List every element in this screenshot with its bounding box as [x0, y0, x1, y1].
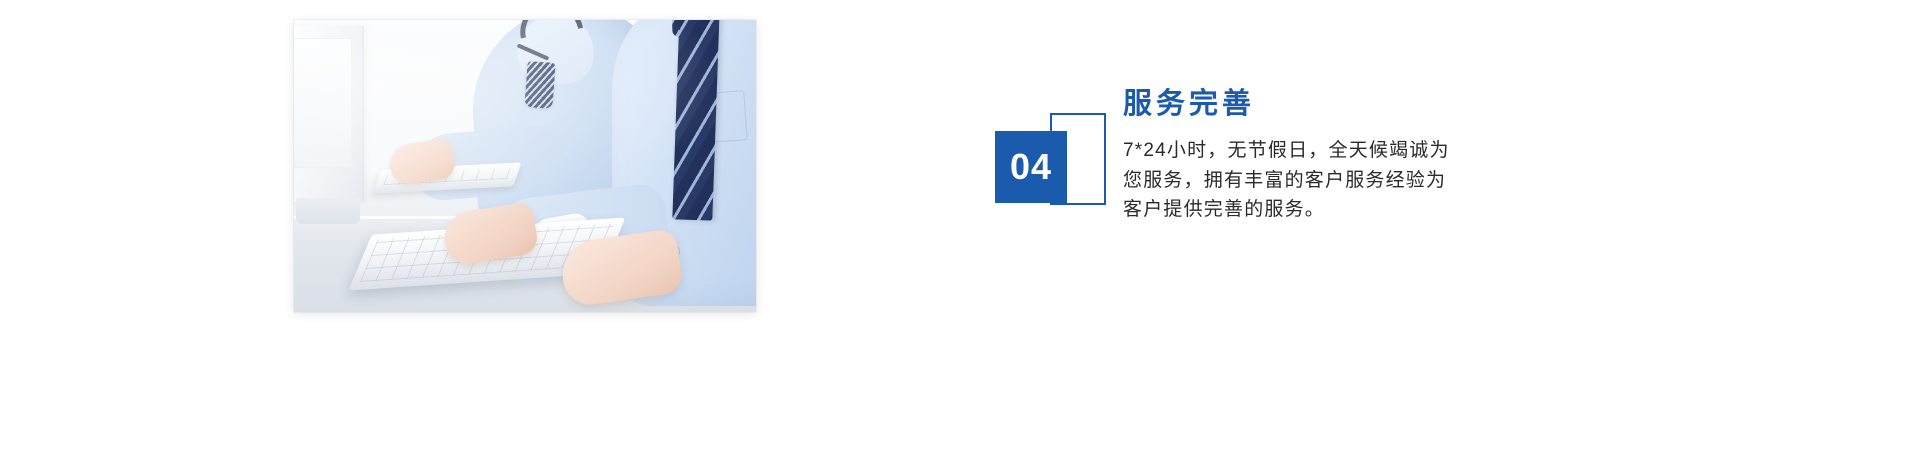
badge-number-label: 04: [1010, 149, 1052, 185]
photo-person-back-tie: [524, 61, 555, 109]
feature-description: 7*24小时，无节假日，全天候竭诚为 您服务，拥有丰富的客户服务经验为 客户提供…: [1123, 136, 1523, 224]
feature-number-badge: 04: [995, 123, 1111, 215]
feature-description-line-1: 7*24小时，无节假日，全天候竭诚为: [1123, 136, 1523, 165]
badge-filled-square: 04: [995, 131, 1067, 203]
feature-text-column: 服务完善 7*24小时，无节假日，全天候竭诚为 您服务，拥有丰富的客户服务经验为…: [1123, 86, 1523, 225]
feature-section: 04 服务完善 7*24小时，无节假日，全天候竭诚为 您服务，拥有丰富的客户服务…: [0, 0, 1920, 452]
photo-monitor-stand: [296, 198, 360, 224]
feature-description-line-3: 客户提供完善的服务。: [1123, 195, 1523, 224]
feature-description-line-2: 您服务，拥有丰富的客户服务经验为: [1123, 166, 1523, 195]
feature-photo-frame: [294, 20, 756, 312]
feature-title: 服务完善: [1123, 86, 1523, 122]
photo-person-front-tie: [672, 20, 719, 221]
office-call-center-photo: [294, 20, 756, 312]
photo-monitor: [294, 26, 364, 202]
photo-monitor-screen: [294, 38, 352, 168]
